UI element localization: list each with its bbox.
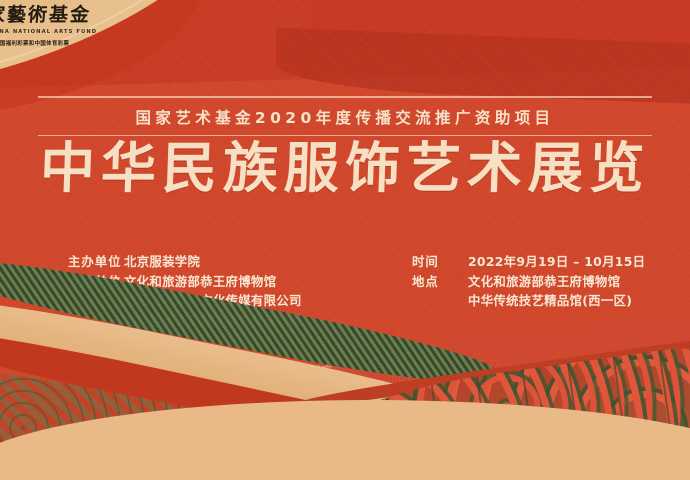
kicker-text: 国家艺术基金2020年度传播交流推广资助项目 [38,98,652,135]
page-title: 中华民族服饰艺术展览 [0,139,690,197]
info-value: 2022年9月19日 – 10月15日 [468,252,645,272]
arts-fund-logo-en: CHINA NATIONAL ARTS FUND [0,29,186,35]
china-national-arts-fund-logo: 家藝術基金 CHINA NATIONAL ARTS FUND — 中国福利彩票和… [0,6,186,47]
info-row: 时间 2022年9月19日 – 10月15日 [412,252,645,272]
info-row: 主办单位 北京服装学院 [68,252,302,272]
info-value: 中华传统技艺精品馆(西一区) [468,291,632,311]
info-label: 主办单位 [68,252,124,272]
info-label: 时间 [412,252,468,272]
arts-fund-logo-sub: — 中国福利彩票和中国体育彩票 [0,39,186,47]
info-label: 地点 [412,272,468,292]
schedule-info-block: 时间 2022年9月19日 – 10月15日 地点 文化和旅游部恭王府博物馆 中… [412,252,645,311]
info-value: 文化和旅游部恭王府博物馆 [468,272,620,292]
arts-fund-logo-cn: 家藝術基金 [0,6,187,25]
info-row: 地点 文化和旅游部恭王府博物馆 [412,272,645,292]
info-row: 中华传统技艺精品馆(西一区) [412,291,645,311]
info-value: 北京服装学院 [124,252,200,272]
kicker-band: 国家艺术基金2020年度传播交流推广资助项目 [38,96,652,136]
exhibition-poster: 家藝術基金 CHINA NATIONAL ARTS FUND — 中国福利彩票和… [0,0,690,480]
